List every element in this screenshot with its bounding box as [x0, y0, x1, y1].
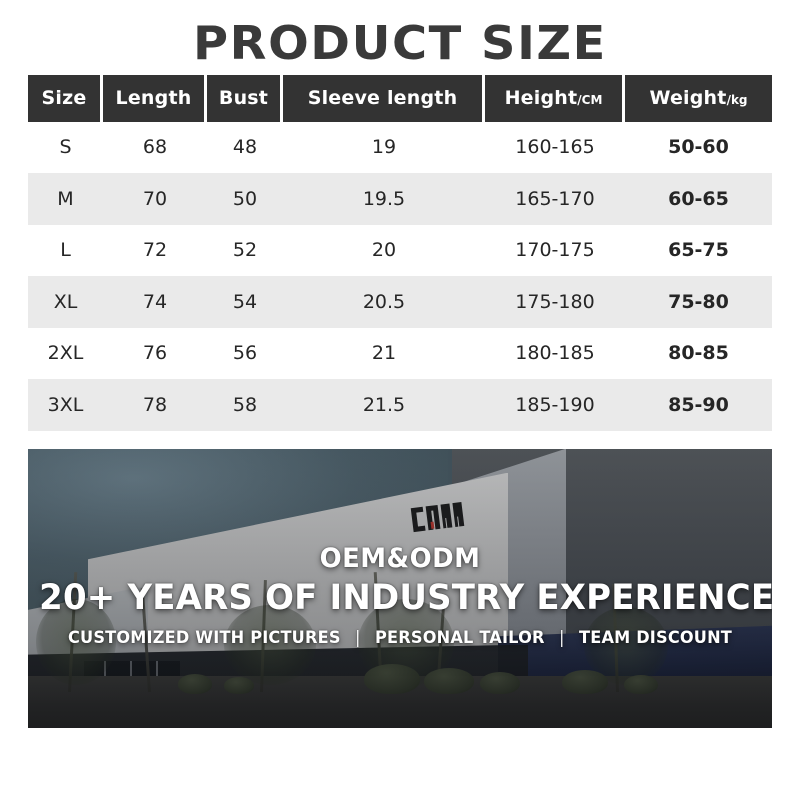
- shrub: [624, 675, 658, 694]
- cell-height: 180-185: [485, 328, 625, 380]
- product-size-page: PRODUCT SIZE Size Length Bust Sleeve len…: [0, 0, 800, 800]
- page-title: PRODUCT SIZE: [0, 0, 800, 75]
- cell-sleeve: 20: [283, 225, 485, 277]
- column-header-length-label: Length: [116, 87, 192, 109]
- building-logo-icon: [408, 493, 468, 540]
- size-table-wrapper: Size Length Bust Sleeve length Height/CM…: [28, 75, 772, 431]
- table-header: Size Length Bust Sleeve length Height/CM…: [28, 75, 772, 122]
- cell-weight: 80-85: [625, 328, 772, 380]
- table-body: S 68 48 19 160-165 50-60 M 70 50 19.5 16…: [28, 122, 772, 431]
- banner-feature-3: TEAM DISCOUNT: [579, 628, 732, 648]
- cell-weight: 75-80: [625, 276, 772, 328]
- cell-weight: 85-90: [625, 379, 772, 431]
- cell-size: S: [28, 122, 103, 174]
- cell-length: 70: [103, 173, 207, 225]
- column-header-weight: Weight/kg: [625, 75, 772, 122]
- cell-weight: 60-65: [625, 173, 772, 225]
- cell-weight: 50-60: [625, 122, 772, 174]
- cell-bust: 52: [207, 225, 283, 277]
- banner-feature-1: CUSTOMIZED WITH PICTURES: [68, 628, 341, 648]
- cell-length: 68: [103, 122, 207, 174]
- column-header-height-unit: /CM: [577, 93, 602, 107]
- cell-bust: 54: [207, 276, 283, 328]
- cell-size: M: [28, 173, 103, 225]
- shrub: [562, 670, 608, 694]
- cell-sleeve: 20.5: [283, 276, 485, 328]
- feature-separator: |: [550, 628, 573, 648]
- column-header-size: Size: [28, 75, 103, 122]
- cell-height: 165-170: [485, 173, 625, 225]
- column-header-size-label: Size: [42, 87, 87, 109]
- shrub: [480, 672, 520, 694]
- banner-headline: OEM&ODM: [43, 545, 757, 572]
- cell-bust: 48: [207, 122, 283, 174]
- column-header-weight-unit: /kg: [727, 93, 748, 107]
- column-header-length: Length: [103, 75, 207, 122]
- column-header-bust: Bust: [207, 75, 283, 122]
- banner-subheadline: 20+ YEARS OF INDUSTRY EXPERIENCE: [39, 578, 761, 618]
- cell-sleeve: 19: [283, 122, 485, 174]
- column-header-height: Height/CM: [485, 75, 625, 122]
- cell-size: XL: [28, 276, 103, 328]
- table-row: 2XL 76 56 21 180-185 80-85: [28, 328, 772, 380]
- table-row: 3XL 78 58 21.5 185-190 85-90: [28, 379, 772, 431]
- cell-length: 76: [103, 328, 207, 380]
- column-header-sleeve: Sleeve length: [283, 75, 485, 122]
- table-row: XL 74 54 20.5 175-180 75-80: [28, 276, 772, 328]
- column-header-sleeve-label: Sleeve length: [308, 87, 458, 109]
- cell-sleeve: 19.5: [283, 173, 485, 225]
- banner-features: CUSTOMIZED WITH PICTURES | PERSONAL TAIL…: [47, 628, 754, 648]
- cell-height: 160-165: [485, 122, 625, 174]
- size-chart-table: Size Length Bust Sleeve length Height/CM…: [28, 75, 772, 431]
- cell-size: 2XL: [28, 328, 103, 380]
- column-header-height-label: Height: [505, 87, 578, 109]
- cell-length: 72: [103, 225, 207, 277]
- shrub: [224, 677, 254, 694]
- banner-feature-2: PERSONAL TAILOR: [375, 628, 545, 648]
- table-row: M 70 50 19.5 165-170 60-65: [28, 173, 772, 225]
- cell-height: 185-190: [485, 379, 625, 431]
- table-row: L 72 52 20 170-175 65-75: [28, 225, 772, 277]
- cell-sleeve: 21: [283, 328, 485, 380]
- table-header-row: Size Length Bust Sleeve length Height/CM…: [28, 75, 772, 122]
- feature-separator: |: [346, 628, 369, 648]
- banner-overlay-text: OEM&ODM 20+ YEARS OF INDUSTRY EXPERIENCE…: [28, 545, 772, 648]
- cell-height: 175-180: [485, 276, 625, 328]
- table-row: S 68 48 19 160-165 50-60: [28, 122, 772, 174]
- shrub: [424, 668, 474, 694]
- cell-sleeve: 21.5: [283, 379, 485, 431]
- cell-length: 74: [103, 276, 207, 328]
- shrub: [364, 664, 420, 694]
- cell-size: 3XL: [28, 379, 103, 431]
- cell-height: 170-175: [485, 225, 625, 277]
- cell-length: 78: [103, 379, 207, 431]
- shrub: [178, 674, 212, 694]
- cell-weight: 65-75: [625, 225, 772, 277]
- cell-bust: 50: [207, 173, 283, 225]
- column-header-bust-label: Bust: [219, 87, 268, 109]
- cell-size: L: [28, 225, 103, 277]
- cell-bust: 58: [207, 379, 283, 431]
- factory-banner: OEM&ODM 20+ YEARS OF INDUSTRY EXPERIENCE…: [28, 449, 772, 728]
- column-header-weight-label: Weight: [649, 87, 726, 109]
- cell-bust: 56: [207, 328, 283, 380]
